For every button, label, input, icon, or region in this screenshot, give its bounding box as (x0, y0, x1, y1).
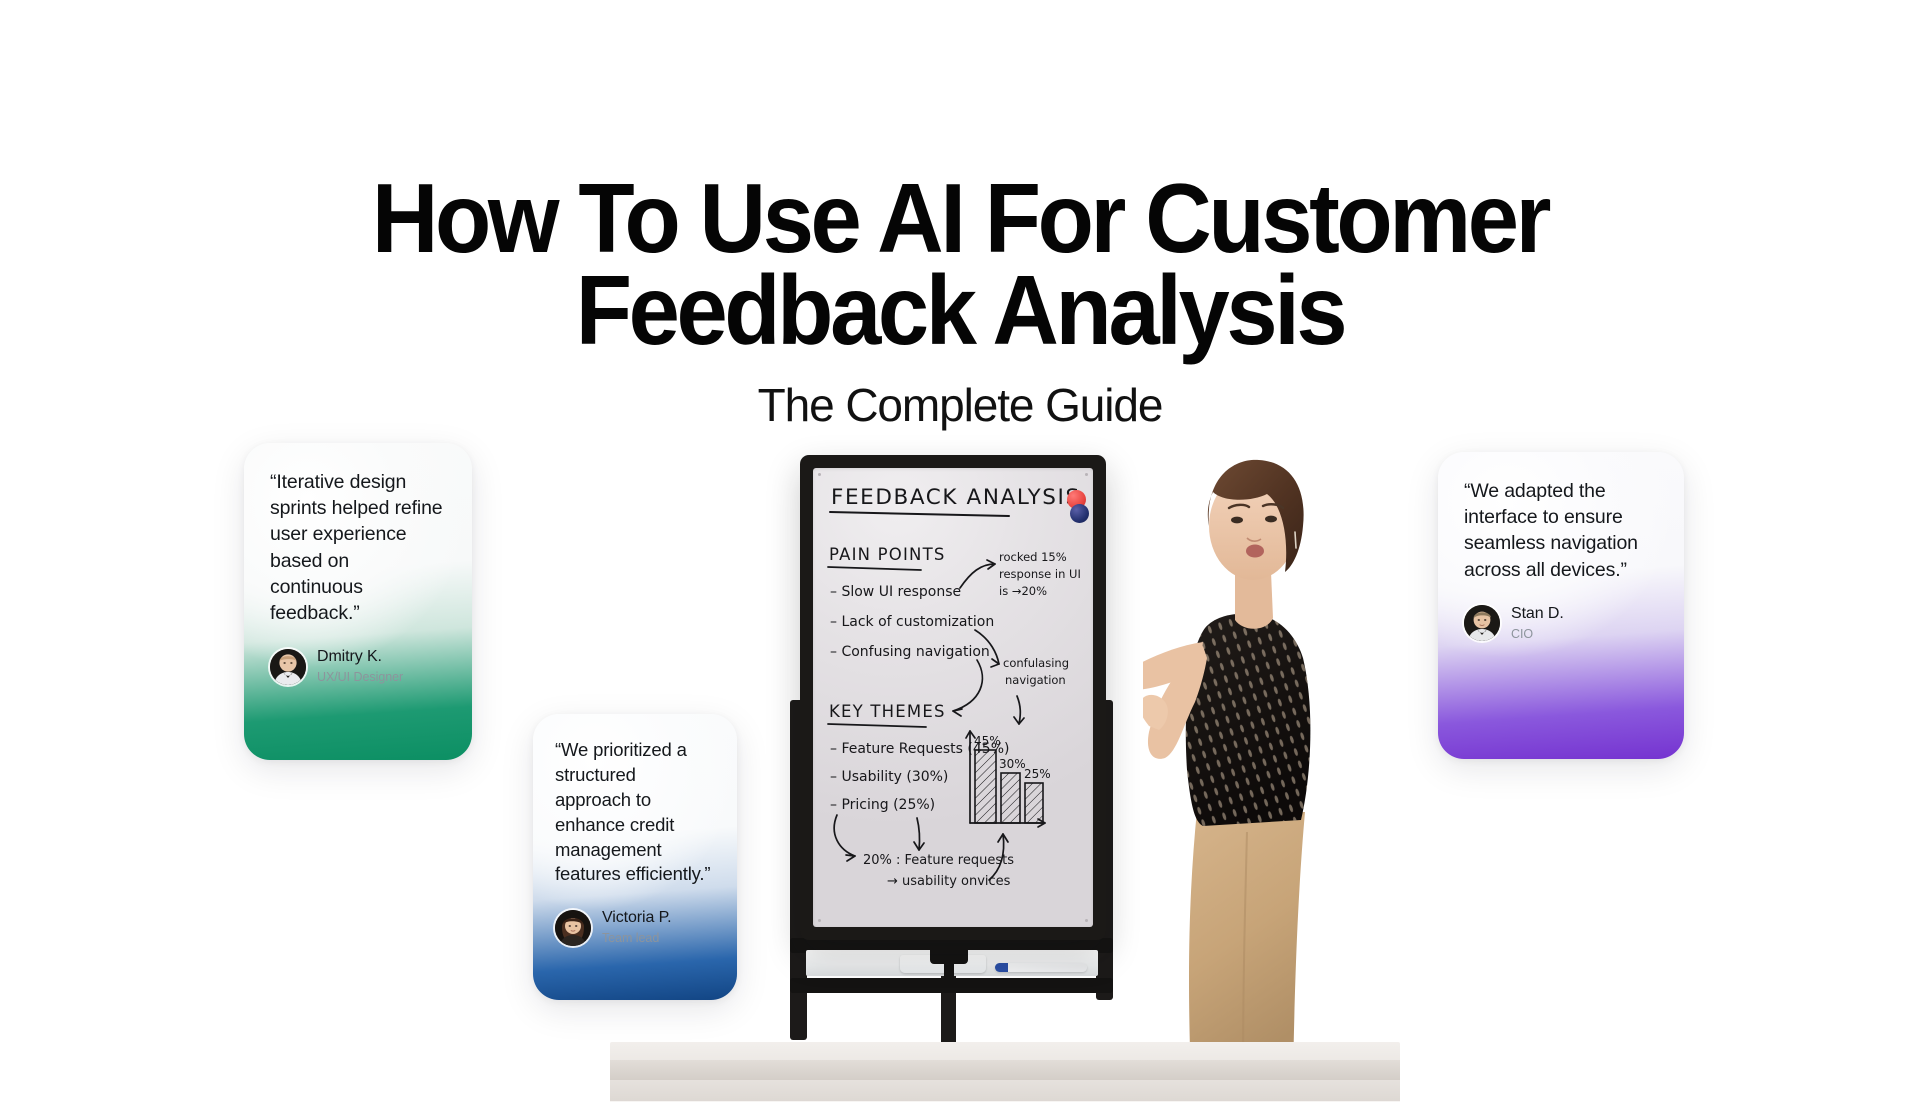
testimonial-quote: “We prioritized a structured approach to… (555, 738, 715, 887)
presenter-figure (1143, 440, 1433, 1080)
magnet-navy-icon (1070, 504, 1089, 523)
whiteboard-title: FEEDBACK ANALYSIS (831, 485, 1081, 510)
author-role: Team lead (602, 931, 671, 946)
whiteboard-content: FEEDBACK ANALYSIS PAIN POINTS – Slow UI … (813, 468, 1093, 927)
pain-points-heading: PAIN POINTS (829, 545, 946, 564)
whiteboard-surface: FEEDBACK ANALYSIS PAIN POINTS – Slow UI … (813, 468, 1093, 927)
avatar (1464, 605, 1500, 641)
key-theme-item: – Usability (30%) (830, 769, 948, 785)
testimonial-quote: “We adapted the interface to ensure seam… (1464, 478, 1658, 583)
testimonial-author: Stan D. CIO (1464, 605, 1658, 642)
author-name: Dmitry K. (317, 648, 403, 667)
bar-value-label: 30% (999, 757, 1026, 771)
testimonial-quote: “Iterative design sprints helped refine … (270, 469, 446, 626)
note-top-line-3: is →20% (999, 584, 1047, 598)
note-mid-line-1: confulasing (1003, 656, 1069, 670)
pain-point-item: – Confusing navigation (830, 644, 990, 660)
bar-value-label: 25% (1024, 767, 1051, 781)
key-theme-item: – Pricing (25%) (830, 797, 935, 813)
pain-point-item: – Lack of customization (830, 614, 994, 630)
pain-point-item: – Slow UI response (830, 584, 961, 600)
note-bottom-line-1: 20% : Feature requests (863, 853, 1014, 868)
note-top-line-2: response in UI (999, 567, 1081, 581)
note-mid-line-2: navigation (1005, 673, 1066, 687)
blue-marker (995, 963, 1087, 972)
testimonial-author: Victoria P. Team lead (555, 909, 715, 946)
author-role: CIO (1511, 627, 1564, 642)
avatar (270, 649, 306, 685)
testimonial-author: Dmitry K. UX/UI Designer (270, 648, 446, 685)
testimonial-card-victoria[interactable]: “We prioritized a structured approach to… (533, 714, 737, 1000)
author-name: Victoria P. (602, 909, 671, 928)
testimonial-card-stan[interactable]: “We adapted the interface to ensure seam… (1438, 452, 1684, 759)
bar-value-label: 45% (974, 734, 1001, 748)
easel-crossbar-bottom (790, 978, 1113, 993)
testimonial-card-dmitry[interactable]: “Iterative design sprints helped refine … (244, 443, 472, 760)
whiteboard-frame: FEEDBACK ANALYSIS PAIN POINTS – Slow UI … (800, 455, 1106, 940)
note-top-line-1: rocked 15% (999, 550, 1067, 564)
key-themes-heading: KEY THEMES (829, 702, 946, 721)
desk-edge (610, 1060, 1400, 1080)
avatar (555, 910, 591, 946)
author-name: Stan D. (1511, 605, 1564, 624)
author-role: UX/UI Designer (317, 670, 403, 685)
